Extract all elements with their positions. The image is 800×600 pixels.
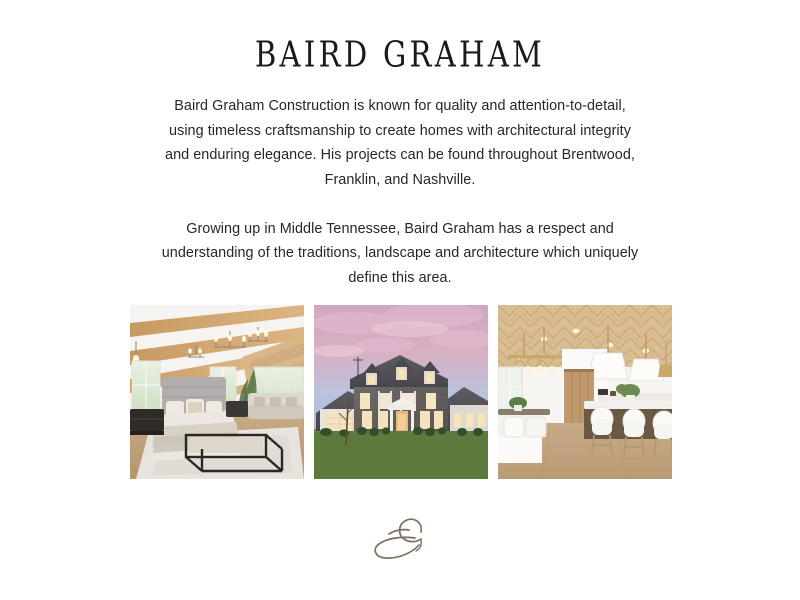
baird-graham-monogram-icon [365,512,435,564]
page-title: BAIRD GRAHAM [12,36,788,77]
kitchen-photo [498,305,672,479]
bedroom-photo [130,305,304,479]
house-exterior-photo [314,305,488,479]
slide-page: BAIRD GRAHAM Baird Graham Construction i… [0,0,800,600]
body-copy: Baird Graham Construction is known for q… [160,94,640,290]
photo-gallery [130,305,672,479]
footer-monogram-container [0,512,800,569]
paragraph-2: Growing up in Middle Tennessee, Baird Gr… [160,217,640,291]
paragraph-1: Baird Graham Construction is known for q… [160,94,640,192]
page-title-container: BAIRD GRAHAM [0,36,800,71]
